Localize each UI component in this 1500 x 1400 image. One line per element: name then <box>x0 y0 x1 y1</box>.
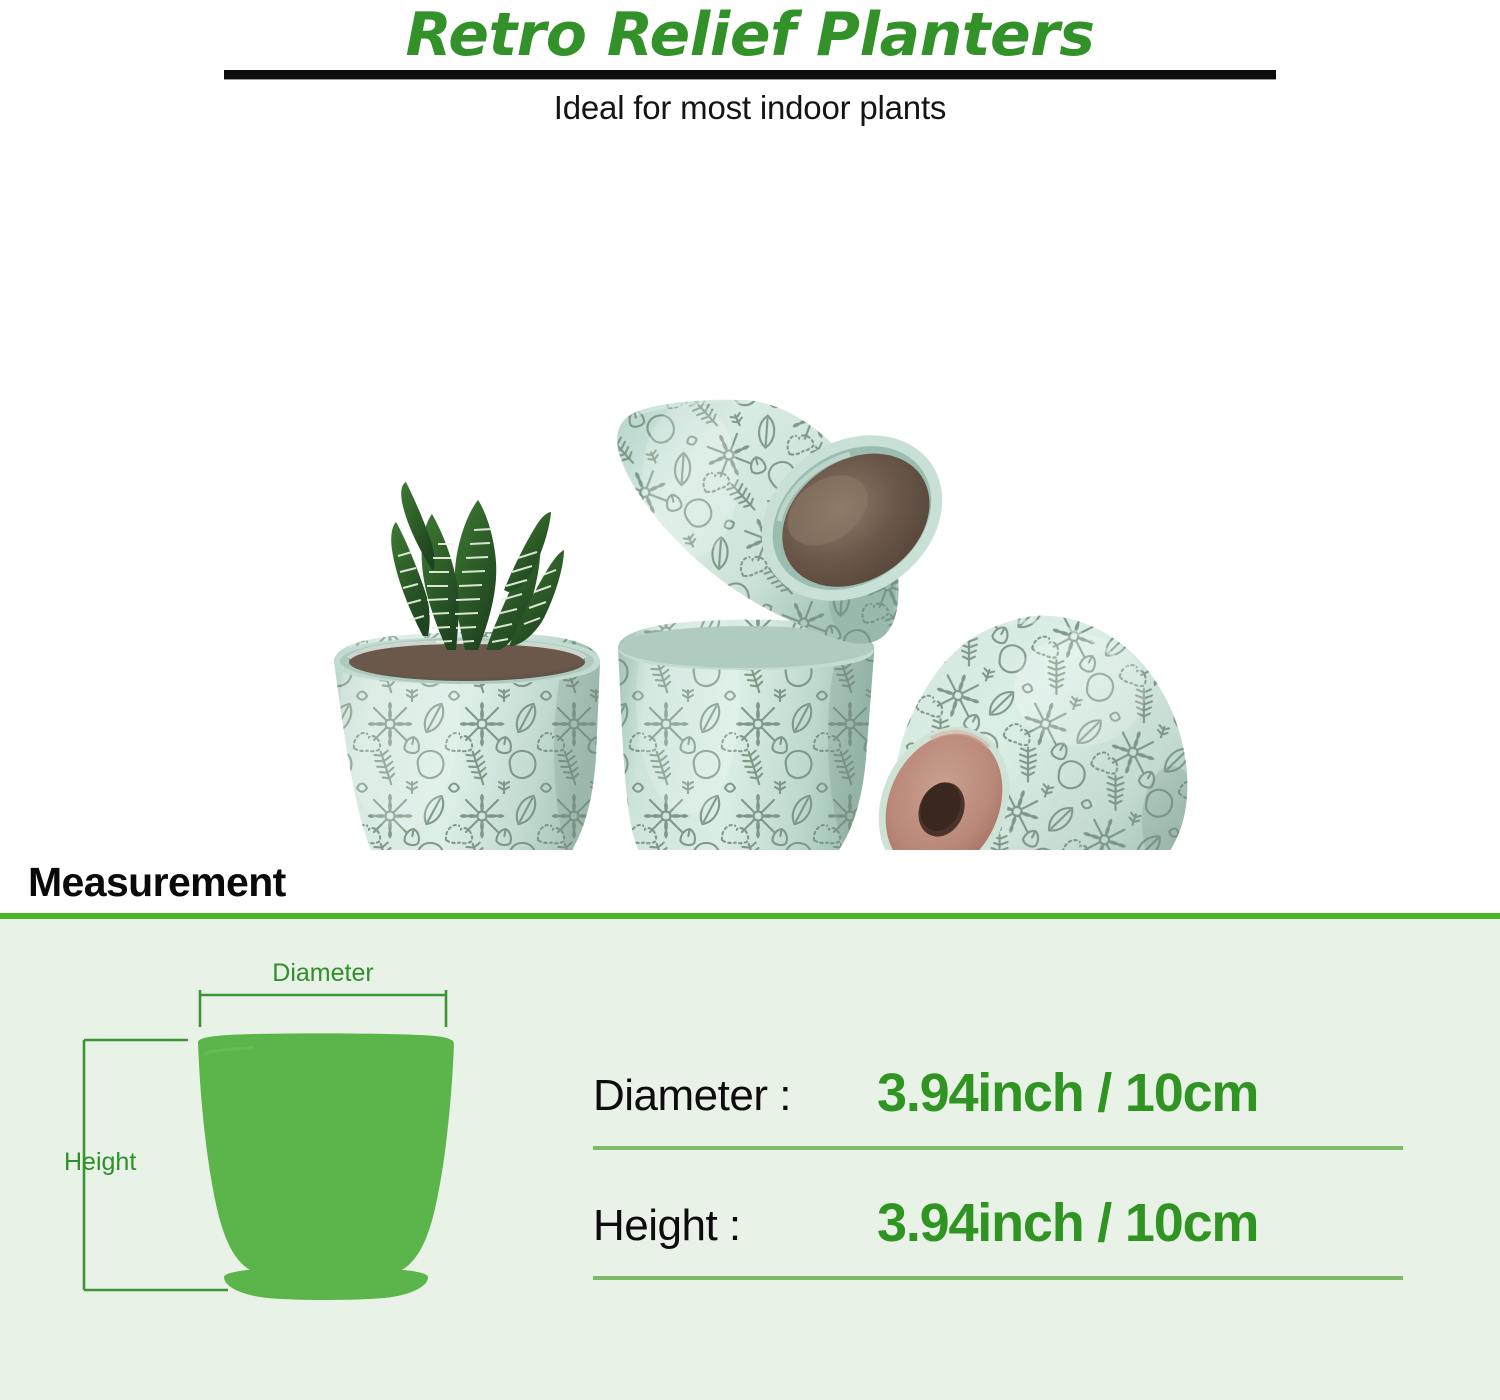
header-banner: Retro Relief Planters Ideal for most ind… <box>0 0 1500 140</box>
spec-underline-height <box>593 1276 1403 1280</box>
planter-with-succulent <box>320 482 622 850</box>
page-subtitle: Ideal for most indoor plants <box>0 88 1500 128</box>
spec-underline-diameter <box>593 1146 1403 1150</box>
pot-silhouette <box>198 1033 454 1300</box>
measurement-heading: Measurement <box>28 858 286 906</box>
diameter-dimension-line <box>200 990 446 1027</box>
spec-row-height: Height : 3.94inch / 10cm <box>593 1192 1403 1284</box>
diagram-diameter-label: Diameter <box>272 959 373 987</box>
measurement-diagram: Diameter Height <box>48 955 568 1325</box>
title-divider-rule <box>224 70 1276 79</box>
spec-label-height: Height : <box>593 1198 741 1254</box>
spec-label-diameter: Diameter : <box>593 1068 791 1124</box>
spec-value-diameter: 3.94inch / 10cm <box>877 1062 1258 1124</box>
succulent-plant <box>391 482 564 650</box>
page-title: Retro Relief Planters <box>0 2 1500 68</box>
diagram-height-label: Height <box>64 1148 136 1176</box>
spec-row-diameter: Diameter : 3.94inch / 10cm <box>593 1062 1403 1154</box>
spec-value-height: 3.94inch / 10cm <box>877 1192 1258 1254</box>
product-photo <box>0 150 1500 850</box>
